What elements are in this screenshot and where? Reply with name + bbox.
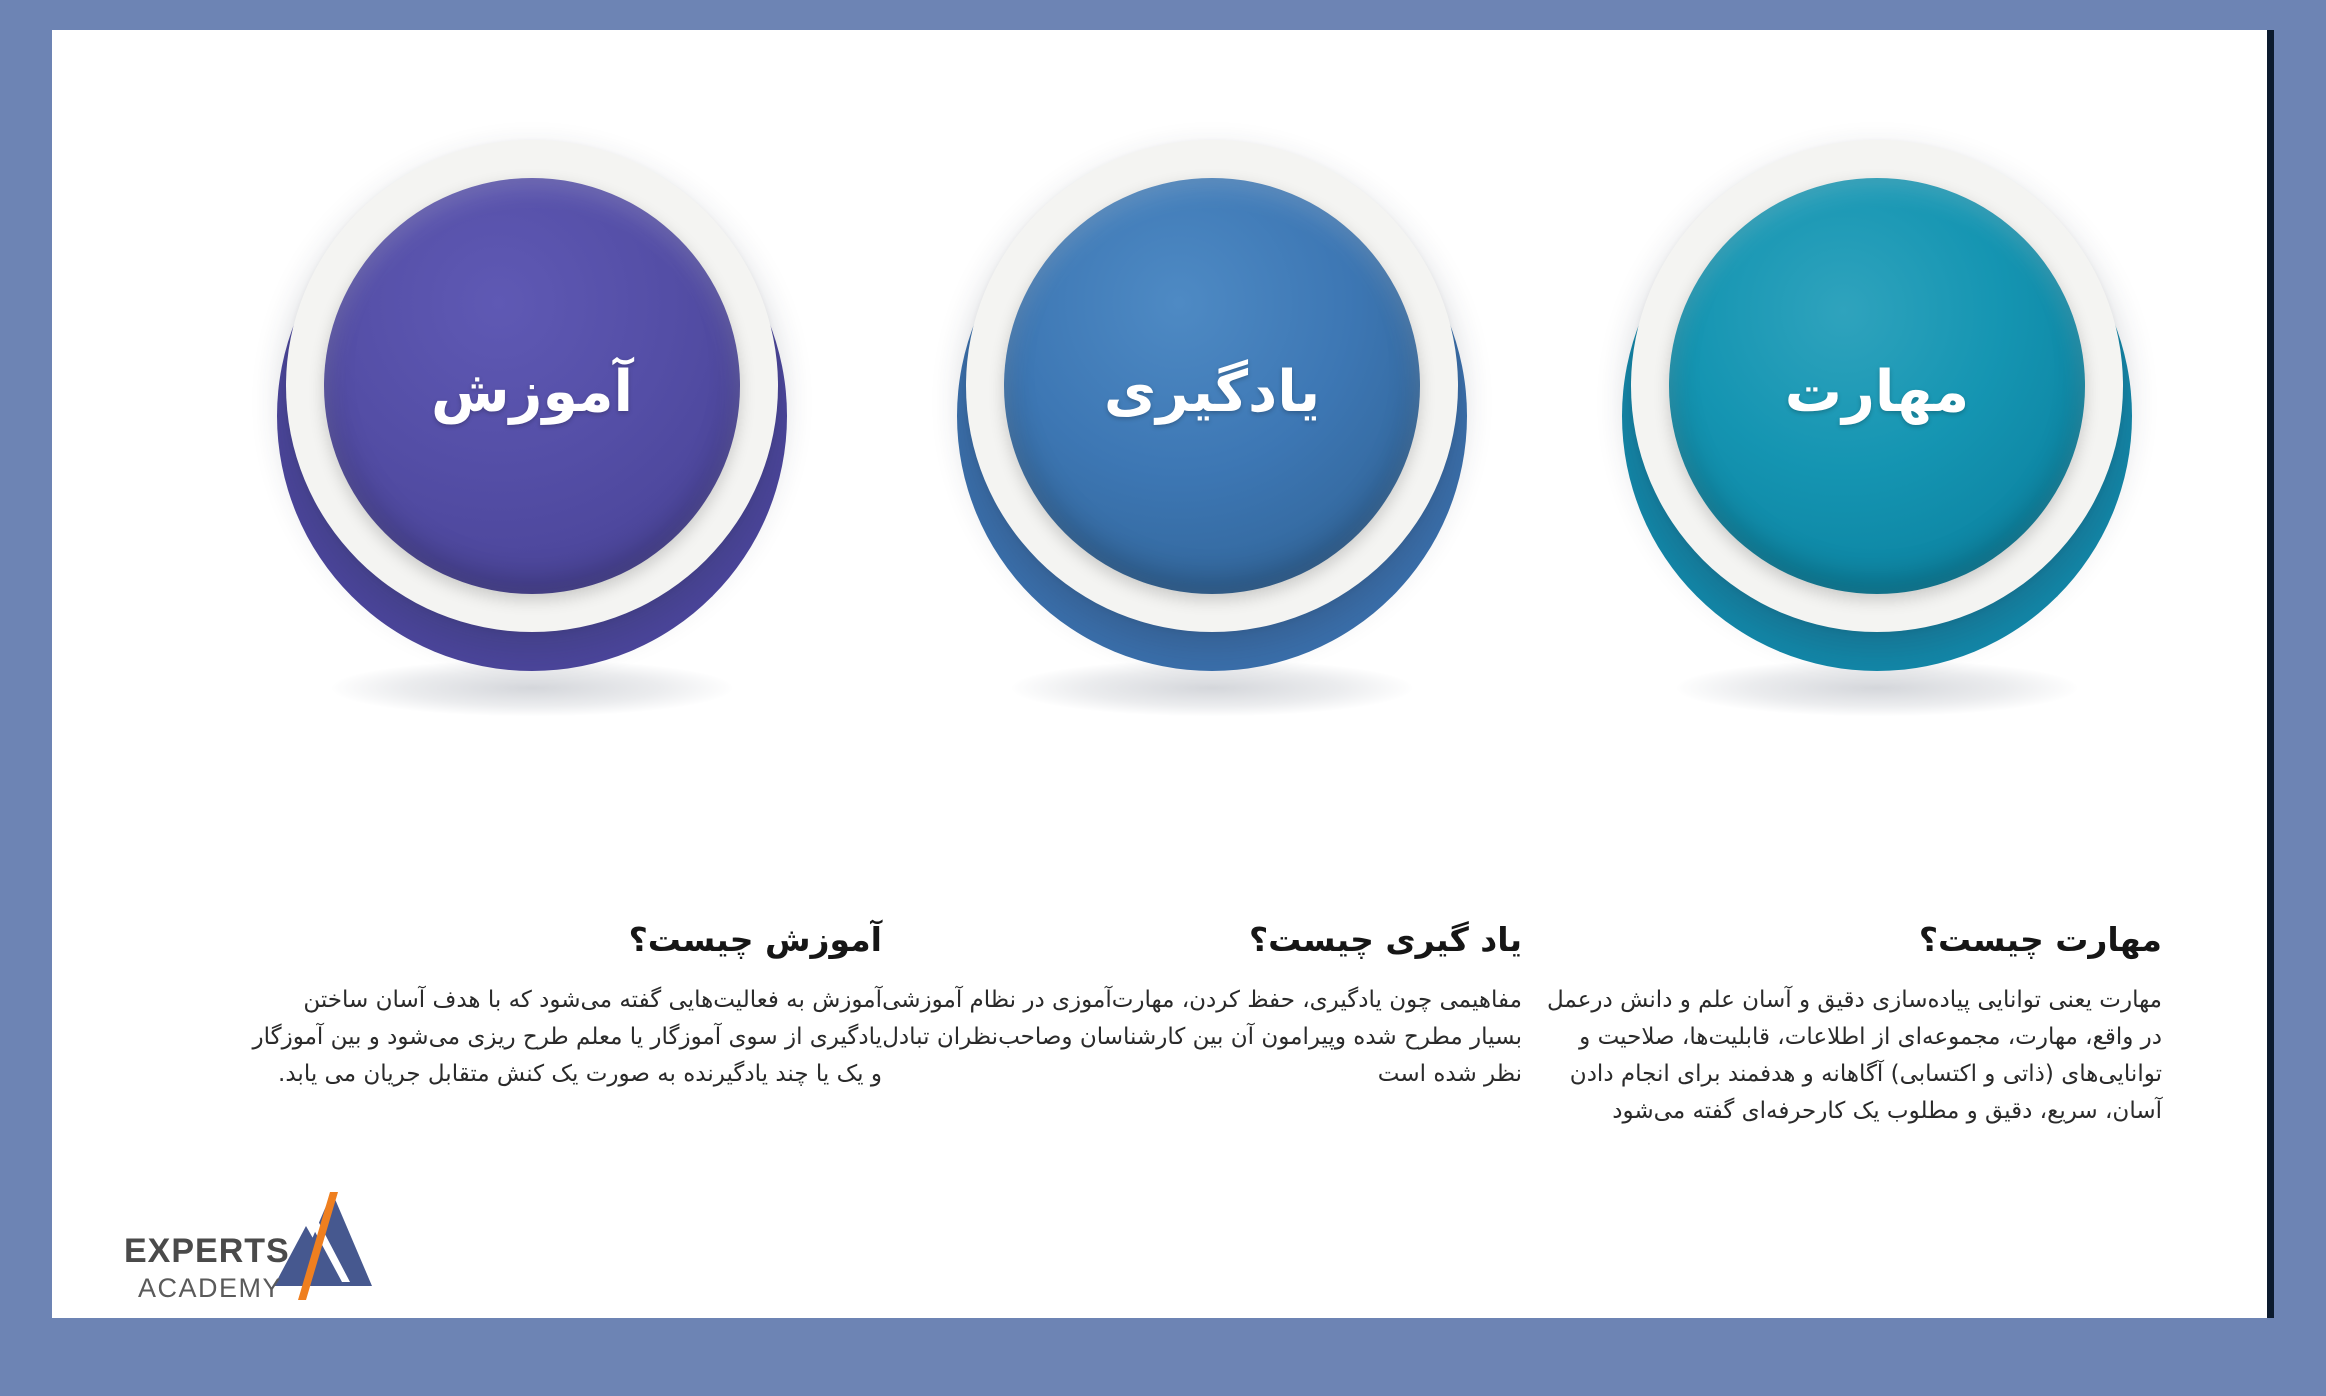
circle-unit-skill[interactable]: مهارت [1597, 140, 2157, 800]
section-title-learning: یاد گیری چیست؟ [882, 920, 1522, 960]
logo-text-academy: ACADEMY [138, 1275, 284, 1302]
text-column-skill: مهارت چیست؟ مهارت یعنی توانایی پیاده‌ساز… [1522, 920, 2162, 1131]
circles-row: مهارت یادگیری آموزش [52, 140, 2274, 840]
circle-unit-learning[interactable]: یادگیری [932, 140, 1492, 800]
disc-label-skill: مهارت [1785, 364, 1969, 421]
text-column-learning: یاد گیری چیست؟ مفاهیمی چون یادگیری، حفظ … [882, 920, 1522, 1093]
section-body-skill: مهارت یعنی توانایی پیاده‌سازی دقیق و آسا… [1522, 982, 2162, 1131]
circle-unit-education[interactable]: آموزش [252, 140, 812, 800]
slide-background: مهارت یادگیری آموزش [0, 0, 2326, 1396]
disc-learning[interactable]: یادگیری [1004, 178, 1420, 594]
disc-label-learning: یادگیری [1104, 364, 1320, 421]
disc-education[interactable]: آموزش [324, 178, 740, 594]
section-body-education: آموزش به فعالیت‌هایی گفته می‌شود که با ه… [242, 982, 882, 1094]
section-title-education: آموزش چیست؟ [242, 920, 882, 960]
logo[interactable]: EXPERTS ACADEMY [124, 1182, 384, 1312]
slide-canvas: مهارت یادگیری آموزش [52, 30, 2274, 1318]
logo-text-experts: EXPERTS [124, 1234, 284, 1268]
text-row: مهارت چیست؟ مهارت یعنی توانایی پیاده‌ساز… [52, 920, 2274, 1180]
text-column-education: آموزش چیست؟ آموزش به فعالیت‌هایی گفته می… [242, 920, 882, 1093]
disc-skill[interactable]: مهارت [1669, 178, 2085, 594]
section-title-skill: مهارت چیست؟ [1522, 920, 2162, 960]
disc-label-education: آموزش [431, 364, 633, 421]
section-body-learning: مفاهیمی چون یادگیری، حفظ کردن، مهارت‌آمو… [882, 982, 1522, 1094]
logo-wordmark: EXPERTS ACADEMY [124, 1234, 284, 1302]
